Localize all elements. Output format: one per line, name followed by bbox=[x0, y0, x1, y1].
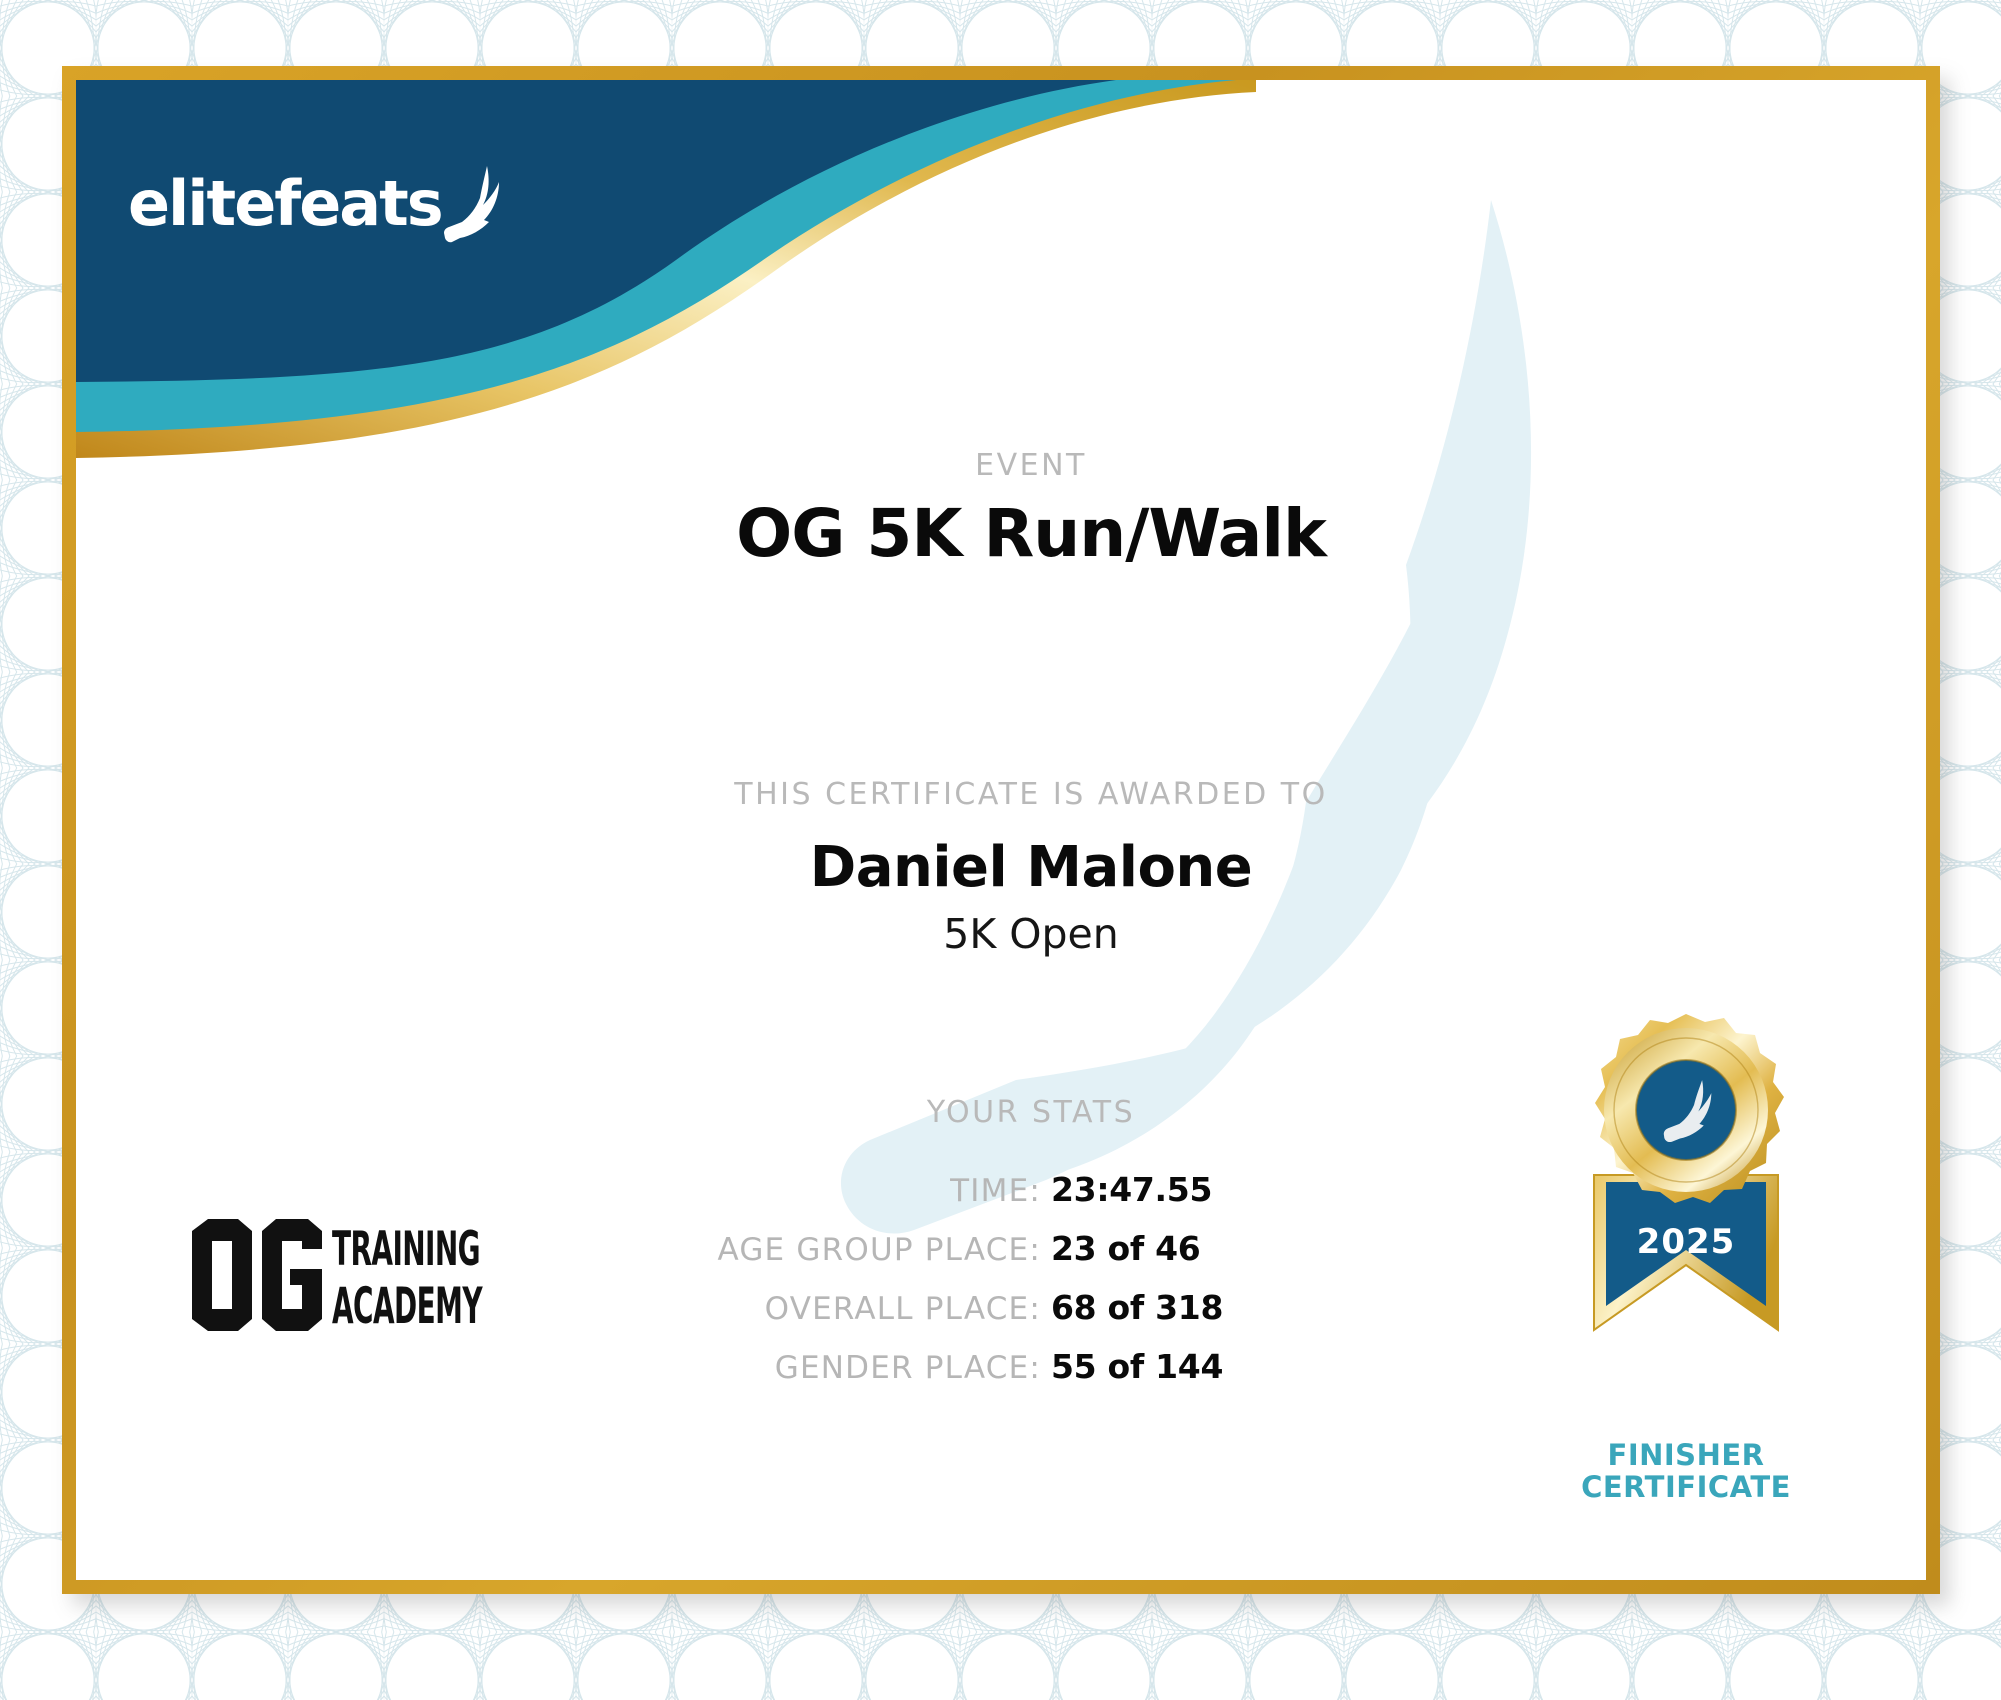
stat-key-time: TIME: bbox=[521, 1173, 1051, 1209]
badge-caption-line1: FINISHER bbox=[1536, 1439, 1836, 1471]
winged-foot-icon bbox=[440, 164, 504, 250]
finisher-badge: 2025 bbox=[1536, 1010, 1836, 1504]
event-name: OG 5K Run/Walk bbox=[406, 495, 1656, 572]
stat-key-age-group-place: AGE GROUP PLACE: bbox=[521, 1232, 1051, 1268]
recipient-name: Daniel Malone bbox=[406, 835, 1656, 900]
header-swoosh-graphic bbox=[76, 80, 1256, 500]
og-training-academy-logo: TRAINING ACADEMY bbox=[186, 1215, 486, 1340]
gold-frame: elitefeats EVENT OG 5K Run/Walk bbox=[62, 66, 1940, 1594]
svg-text:ACADEMY: ACADEMY bbox=[332, 1277, 483, 1335]
stat-row: GENDER PLACE: 55 of 144 bbox=[376, 1347, 1496, 1386]
stat-row: OVERALL PLACE: 68 of 318 bbox=[376, 1288, 1496, 1327]
certificate-card: elitefeats EVENT OG 5K Run/Walk bbox=[76, 80, 1926, 1580]
certificate-page: elitefeats EVENT OG 5K Run/Walk bbox=[0, 0, 2001, 1700]
stat-value-gender-place: 55 of 144 bbox=[1051, 1347, 1351, 1386]
stat-key-overall-place: OVERALL PLACE: bbox=[521, 1291, 1051, 1327]
division-name: 5K Open bbox=[406, 910, 1656, 958]
awarded-to-label: THIS CERTIFICATE IS AWARDED TO bbox=[406, 777, 1656, 812]
stats-list: TIME: 23:47.55 AGE GROUP PLACE: 23 of 46… bbox=[376, 1170, 1496, 1406]
elitefeats-logo: elitefeats bbox=[128, 158, 504, 250]
your-stats-label: YOUR STATS bbox=[406, 1095, 1656, 1130]
stat-value-age-group-place: 23 of 46 bbox=[1051, 1229, 1351, 1268]
badge-caption-line2: CERTIFICATE bbox=[1536, 1471, 1836, 1503]
brand-wordmark: elitefeats bbox=[128, 173, 442, 235]
stat-row: TIME: 23:47.55 bbox=[376, 1170, 1496, 1209]
og-logo-graphic: TRAINING ACADEMY bbox=[186, 1215, 486, 1335]
stat-key-gender-place: GENDER PLACE: bbox=[521, 1350, 1051, 1386]
badge-caption: FINISHER CERTIFICATE bbox=[1536, 1439, 1836, 1504]
medal-ribbon-graphic: 2025 bbox=[1536, 1010, 1836, 1430]
stat-value-time: 23:47.55 bbox=[1051, 1170, 1351, 1209]
event-label: EVENT bbox=[406, 448, 1656, 483]
stat-value-overall-place: 68 of 318 bbox=[1051, 1288, 1351, 1327]
svg-text:TRAINING: TRAINING bbox=[332, 1222, 480, 1277]
stat-row: AGE GROUP PLACE: 23 of 46 bbox=[376, 1229, 1496, 1268]
badge-year-text: 2025 bbox=[1637, 1222, 1736, 1262]
